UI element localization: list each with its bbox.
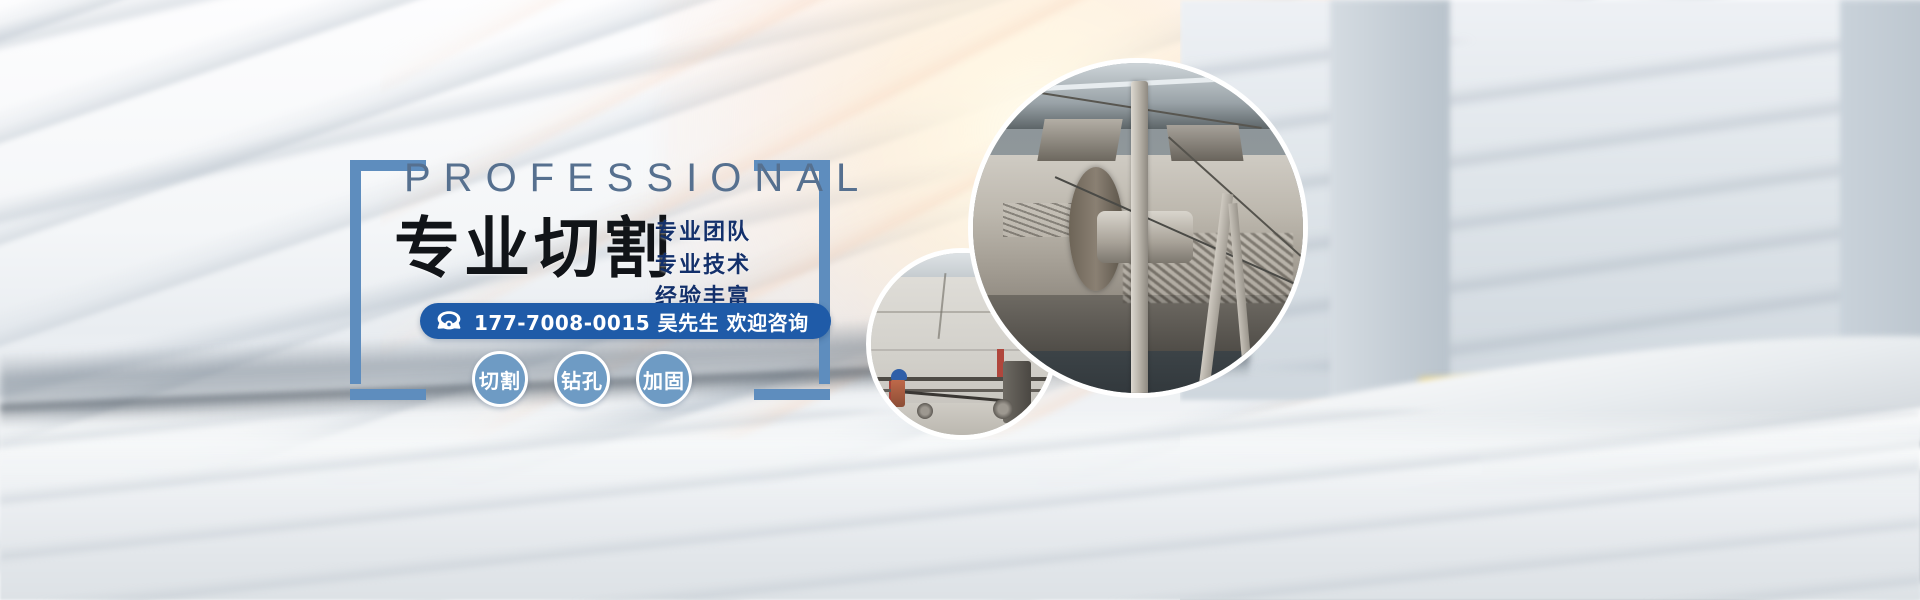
photo-worker-helmet [891, 369, 907, 380]
telephone-icon [436, 310, 462, 332]
feature-item: 专业技术 [655, 252, 751, 280]
photo-saw-wheel-3 [917, 403, 933, 419]
headline-english: PROFESSIONAL [404, 156, 871, 201]
contact-phone-text: 177-7008-0015 吴先生 欢迎咨询 [474, 307, 809, 336]
photo-saw-wheel-2 [1033, 399, 1051, 417]
service-button-reinforcement[interactable]: 加固 [636, 351, 692, 407]
photo-saw-wheel-1 [993, 399, 1013, 419]
feature-list: 专业团队 专业技术 经验丰富 [655, 219, 751, 312]
bracket-top-left-vertical [350, 160, 361, 384]
photo-hopper-left [1037, 119, 1122, 161]
photo-vertical-post [1131, 81, 1148, 398]
concrete-wire-saw-machinery-photo [968, 58, 1308, 398]
bracket-bottom-left-horizontal [350, 389, 426, 400]
photo-hopper-right [1166, 125, 1243, 161]
bracket-bottom-right-horizontal [754, 389, 830, 400]
promo-banner: PROFESSIONAL 专业切割 专业团队 专业技术 经验丰富 177-700… [0, 0, 1920, 600]
headline-chinese: 专业切割 [394, 216, 674, 282]
contact-phone-bar[interactable]: 177-7008-0015 吴先生 欢迎咨询 [420, 303, 831, 339]
highway-pillar-left [1330, 0, 1450, 430]
service-buttons: 切割 钻孔 加固 [472, 351, 692, 407]
service-button-drilling[interactable]: 钻孔 [554, 351, 610, 407]
feature-item: 专业团队 [655, 219, 751, 247]
service-button-cutting[interactable]: 切割 [472, 351, 528, 407]
photo-worker-body [891, 379, 905, 407]
